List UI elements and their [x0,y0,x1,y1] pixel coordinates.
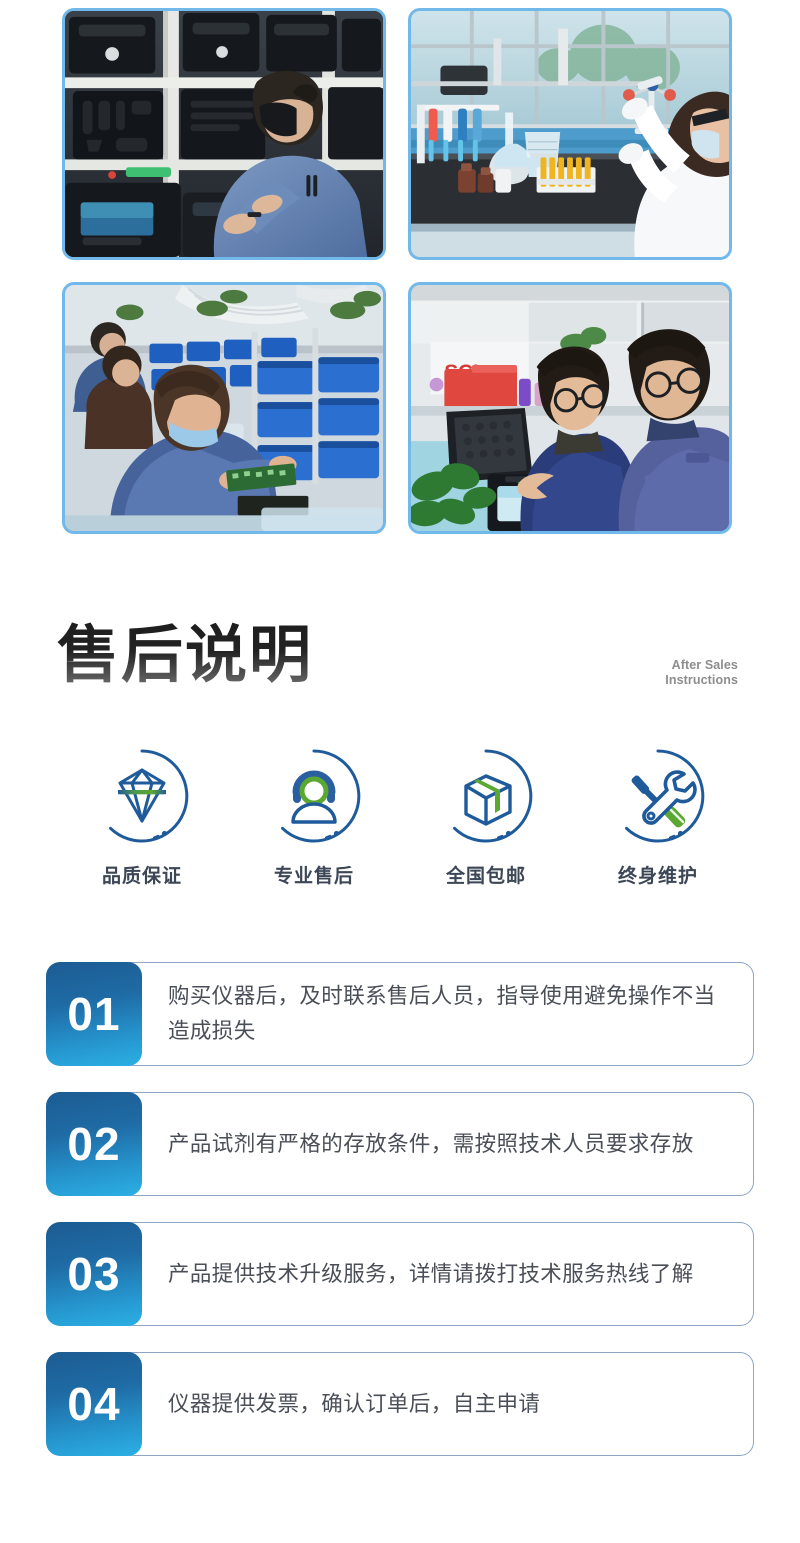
feature-quality-guarantee: 品质保证 [62,748,222,888]
page-title: 售后说明 [57,616,313,694]
feature-list: 品质保证 专业售后 [62,748,738,888]
assembly-line-illustration [65,285,383,531]
page-title-english: After Sales Instructions [665,658,738,688]
instruction-card-text: 购买仪器后，及时联系售后人员，指导使用避免操作不当造成损失 [142,962,754,1066]
diamond-icon [94,748,190,844]
page-title-english-line2: Instructions [665,673,738,688]
instruction-card-list: 01 购买仪器后，及时联系售后人员，指导使用避免操作不当造成损失 02 产品试剂… [46,962,754,1482]
laboratory-illustration [411,11,729,257]
feature-label: 品质保证 [62,861,222,888]
feature-label: 终身维护 [578,861,738,888]
feature-professional-support: 专业售后 [234,748,394,888]
headset-support-icon [266,748,362,844]
instruction-card-number: 02 [46,1092,142,1196]
feature-label: 全国包邮 [406,861,566,888]
section-title-block: 售后说明 After Sales Instructions [0,612,800,722]
feature-label: 专业售后 [234,861,394,888]
feature-lifetime-maintenance: 终身维护 [578,748,738,888]
wrench-screwdriver-icon [610,748,706,844]
instruction-card-text: 产品提供技术升级服务，详情请拨打技术服务热线了解 [142,1222,754,1326]
package-box-icon [438,748,534,844]
assembly-line-photo [62,282,386,534]
instruction-card-number: 01 [46,962,142,1066]
instruction-card: 02 产品试剂有严格的存放条件，需按照技术人员要求存放 [46,1092,754,1196]
instruction-card: 01 购买仪器后，及时联系售后人员，指导使用避免操作不当造成损失 [46,962,754,1066]
instruction-card: 03 产品提供技术升级服务，详情请拨打技术服务热线了解 [46,1222,754,1326]
warehouse-inspection-illustration [65,11,383,257]
instruction-card: 04 仪器提供发票，确认订单后，自主申请 [46,1352,754,1456]
instruction-card-number: 04 [46,1352,142,1456]
field-demo-illustration: SCI [411,285,729,531]
instruction-card-text: 产品试剂有严格的存放条件，需按照技术人员要求存放 [142,1092,754,1196]
feature-nationwide-free-shipping: 全国包邮 [406,748,566,888]
warehouse-inspection-photo [62,8,386,260]
instruction-card-text: 仪器提供发票，确认订单后，自主申请 [142,1352,754,1456]
instruction-card-number: 03 [46,1222,142,1326]
field-demo-photo: SCI [408,282,732,534]
laboratory-photo [408,8,732,260]
page-title-english-line1: After Sales [665,658,738,673]
photo-grid: SCI [62,8,738,534]
